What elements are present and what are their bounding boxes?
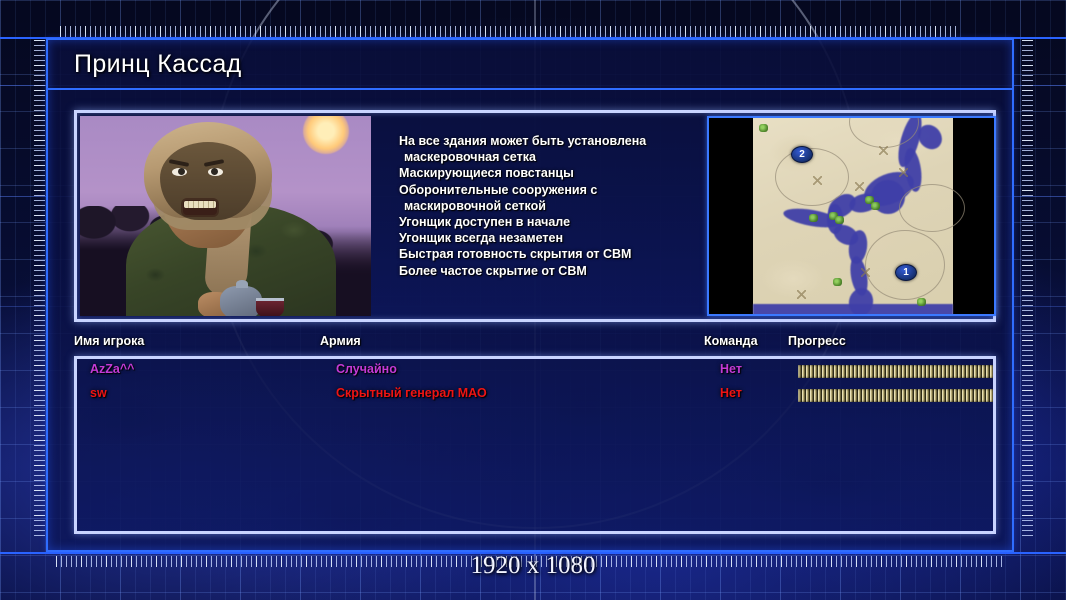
resource-icon	[917, 298, 926, 306]
general-bonus-list: На все здания может быть установленамаск…	[399, 133, 699, 279]
player-name: AzZa^^	[90, 362, 134, 376]
start-position-marker: 2	[791, 146, 813, 163]
portrait-pupil-left	[178, 168, 185, 175]
start-position-marker: 1	[895, 264, 917, 281]
start-position-label: 1	[903, 267, 909, 278]
resource-icon	[759, 124, 768, 132]
prop-icon	[813, 176, 822, 185]
prop-icon	[861, 268, 870, 277]
player-name: sw	[90, 386, 107, 400]
map-preview[interactable]: 2 1	[707, 116, 996, 316]
prop-icon	[899, 168, 908, 177]
resource-icon	[835, 216, 844, 224]
teacup-icon	[256, 298, 284, 316]
general-bonus-item: Быстрая готовность скрытия от СВМ	[399, 246, 699, 262]
progress-bar	[798, 365, 994, 378]
column-header-progress: Прогресс	[788, 334, 846, 348]
ruler-ticks-left	[34, 40, 45, 540]
player-team: Нет	[720, 362, 742, 376]
player-team: Нет	[720, 386, 742, 400]
ruler-ticks-right	[1022, 40, 1033, 540]
column-header-team: Команда	[704, 334, 758, 348]
portrait-pupil-right	[211, 168, 218, 175]
map-canvas: 2 1	[753, 118, 953, 314]
resource-icon	[833, 278, 842, 286]
table-row[interactable]: AzZa^^СлучайноНет	[77, 359, 993, 383]
column-header-army: Армия	[320, 334, 361, 348]
prop-icon	[797, 290, 806, 299]
player-army: Случайно	[336, 362, 397, 376]
title-bar: Принц Кассад	[48, 40, 1012, 90]
general-info-panel: На все здания может быть установленамаск…	[74, 110, 996, 322]
general-bonus-item: На все здания может быть установлена	[399, 133, 699, 149]
start-position-label: 2	[799, 149, 805, 160]
table-row[interactable]: swСкрытный генерал МАОНет	[77, 383, 993, 407]
player-army: Скрытный генерал МАО	[336, 386, 487, 400]
progress-bar	[798, 389, 994, 402]
general-bonus-item: маскеровочная сетка	[399, 149, 699, 165]
page-title: Принц Кассад	[74, 50, 242, 79]
player-table-header: Имя игрока Армия Команда Прогресс	[48, 334, 1012, 356]
portrait-teeth	[184, 201, 216, 208]
general-bonus-item: Угонщик доступен в начале	[399, 214, 699, 230]
ruler-ticks-top	[60, 26, 960, 37]
general-bonus-item: Маскирующиеся повстанцы	[399, 165, 699, 181]
general-portrait	[80, 116, 371, 316]
general-bonus-item: Угонщик всегда незаметен	[399, 230, 699, 246]
column-header-name: Имя игрока	[74, 334, 144, 348]
resource-icon	[809, 214, 818, 222]
general-bonus-item: Более частое скрытие от СВМ	[399, 263, 699, 279]
kettle-cap-icon	[236, 280, 248, 288]
road-line	[899, 184, 965, 232]
resolution-label: 1920 x 1080	[0, 552, 1066, 580]
resource-icon	[871, 202, 880, 210]
sun-icon	[303, 116, 349, 154]
prop-icon	[879, 146, 888, 155]
general-bonus-item: маскировочной сеткой	[399, 198, 699, 214]
general-bonus-item: Оборонительные сооружения с	[399, 182, 699, 198]
prop-icon	[855, 182, 864, 191]
player-list: AzZa^^СлучайноНетswСкрытный генерал МАОН…	[74, 356, 996, 534]
general-detail-panel: Принц Кассад На все здани	[46, 38, 1014, 552]
